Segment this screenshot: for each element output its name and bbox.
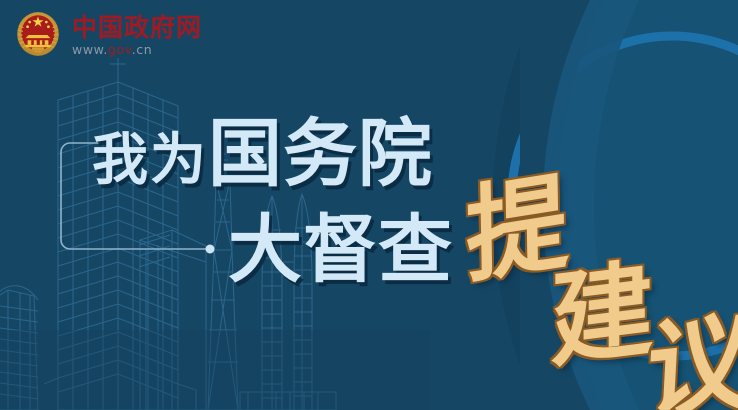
endpoint-dot-icon [206, 245, 215, 254]
gov-cn-promo-banner: 中国政府网 www.gov.cn 我为国务院 大督查 提 建 议 [0, 0, 738, 410]
site-brand[interactable]: 中国政府网 www.gov.cn [12, 8, 202, 60]
url-highlight: gov [108, 42, 132, 57]
site-url: www.gov.cn [72, 42, 202, 57]
site-name-cn: 中国政府网 [72, 14, 202, 41]
url-suffix: .cn [132, 42, 153, 57]
china-national-emblem-icon [12, 8, 64, 60]
url-prefix: www. [72, 42, 108, 57]
bracket-connector-icon [58, 140, 248, 265]
